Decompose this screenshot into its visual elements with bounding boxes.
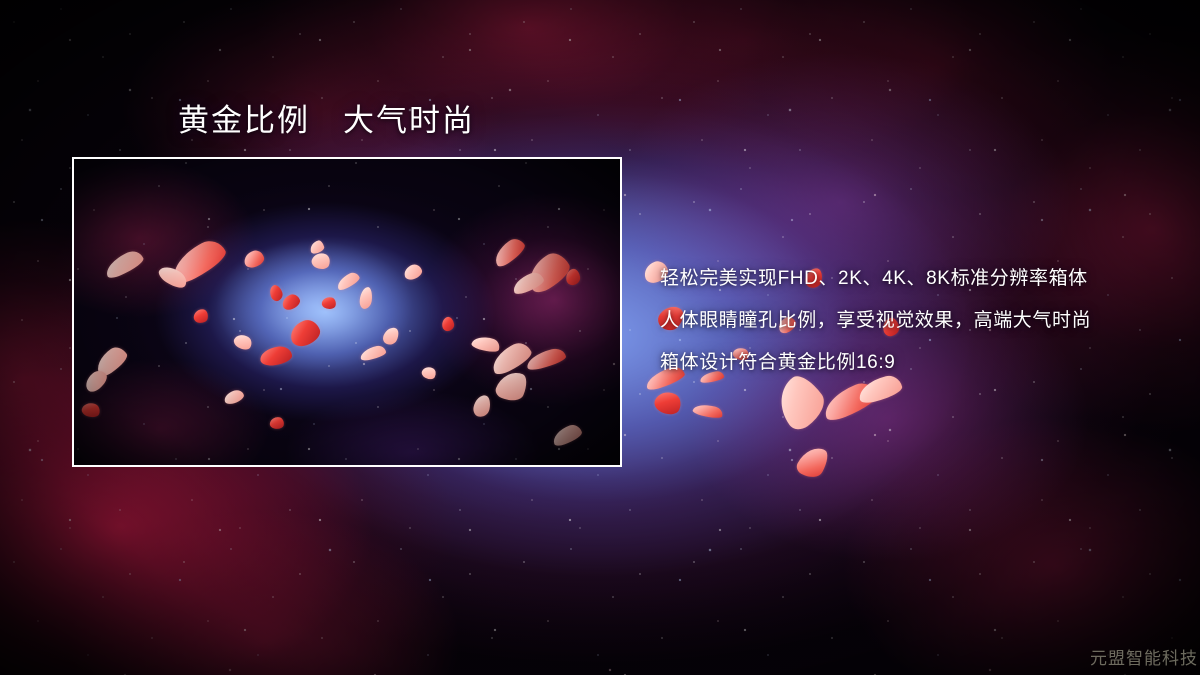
framed-image: [72, 157, 622, 467]
petal: [794, 442, 832, 482]
page-title: 黄金比例 大气时尚: [178, 102, 475, 140]
framed-image-vignette: [74, 159, 620, 465]
petal: [692, 402, 724, 421]
body-text-line: 轻松完美实现FHD、2K、4K、8K标准分辨率箱体: [660, 258, 1180, 300]
petal: [652, 388, 685, 419]
body-text-block: 轻松完美实现FHD、2K、4K、8K标准分辨率箱体 人体眼睛瞳孔比例，享受视觉效…: [660, 258, 1180, 384]
framed-image-content: [74, 159, 620, 465]
body-text-line: 箱体设计符合黄金比例16:9: [660, 342, 1180, 384]
watermark: 元盟智能科技: [1090, 644, 1198, 669]
presentation-slide: 黄金比例 大气时尚 轻松完美实现FHD、2K、4K、8K标准分辨率箱体 人体眼睛…: [0, 0, 1200, 675]
body-text-line: 人体眼睛瞳孔比例，享受视觉效果，高端大气时尚: [660, 300, 1180, 342]
